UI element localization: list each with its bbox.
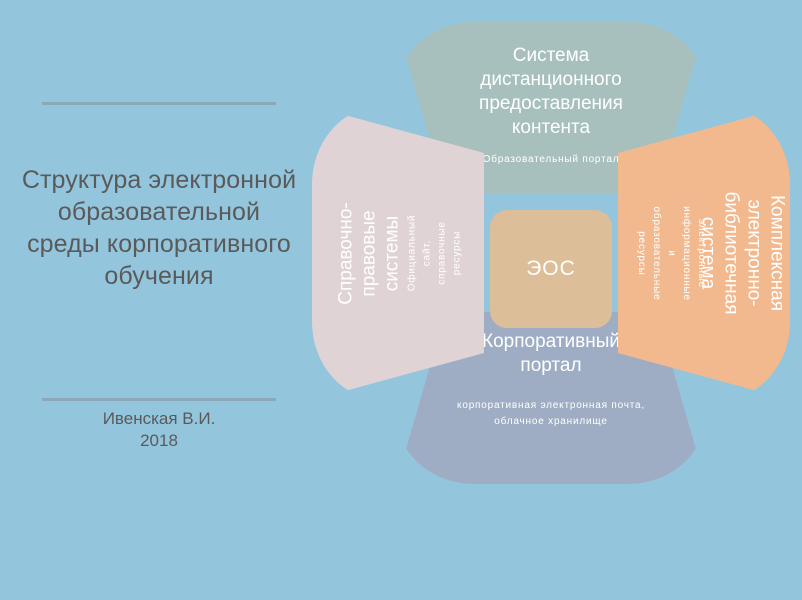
petal-right-library-system[interactable]: Комплексная электронно- библиотечная сис… bbox=[618, 106, 790, 400]
petal-right-subtitle: электронные информационные и образовател… bbox=[634, 206, 709, 301]
author-name: Ивенская В.И. bbox=[18, 408, 300, 430]
title-rule-top bbox=[42, 102, 276, 105]
petal-left-title: Справочно-правовые системы bbox=[335, 202, 404, 304]
hub-label: ЭОС bbox=[526, 257, 576, 281]
petal-bottom-subtitle: корпоративная электронная почта, облачно… bbox=[396, 378, 706, 430]
petal-right-subtitle-wrap: электронные информационные и образовател… bbox=[638, 106, 704, 400]
petal-diagram: Система дистанционного предоставления ко… bbox=[312, 22, 788, 484]
title-block: Структура электронной образовательной ср… bbox=[18, 86, 300, 456]
petal-right-title-wrap: Комплексная электронно- библиотечная сис… bbox=[712, 106, 774, 400]
author-year: 2018 bbox=[18, 430, 300, 452]
slide-canvas: Структура электронной образовательной ср… bbox=[0, 0, 802, 600]
petal-left-subtitle: Официальный сайт, справочные ресурсы bbox=[404, 215, 464, 292]
author-block: Ивенская В.И. 2018 bbox=[18, 408, 300, 452]
hub-center-eos[interactable]: ЭОС bbox=[490, 210, 612, 328]
petal-left-subtitle-wrap: Официальный сайт, справочные ресурсы bbox=[408, 106, 460, 400]
petal-left-legal-systems[interactable]: Справочно-правовые системы Официальный с… bbox=[312, 106, 484, 400]
title-rule-bottom bbox=[42, 398, 276, 401]
petal-top-title: Система дистанционного предоставления ко… bbox=[396, 22, 706, 140]
page-title: Структура электронной образовательной ср… bbox=[18, 164, 300, 292]
petal-right-title: Комплексная электронно- библиотечная сис… bbox=[697, 191, 789, 314]
petal-left-title-wrap: Справочно-правовые системы bbox=[338, 106, 400, 400]
